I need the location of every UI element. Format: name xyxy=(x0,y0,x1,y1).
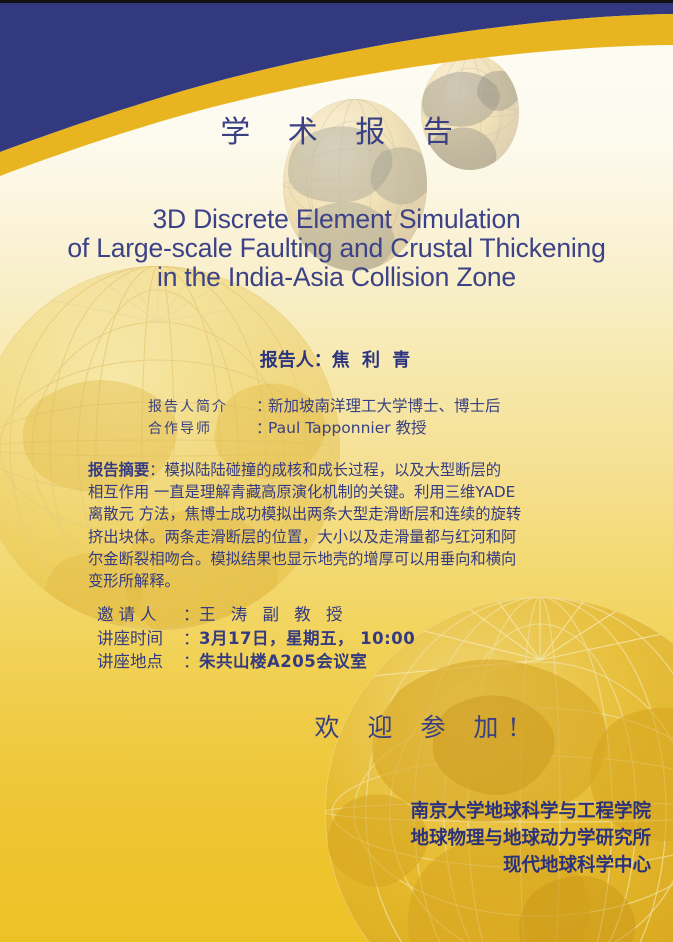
bio-intro-label: 报告人简介 xyxy=(148,397,256,418)
speaker-line: 报告人：焦 利 青 xyxy=(0,346,673,372)
poster-title-en: 3D Discrete Element Simulation of Large-… xyxy=(0,205,673,292)
welcome-message: 欢 迎 参 加! xyxy=(0,708,673,744)
abstract-line-4: 挤出块体。两条走滑断层的位置，大小以及走滑量都与红河和阿 xyxy=(88,526,598,548)
bio-intro-colon: ： xyxy=(256,396,268,417)
footer-line-2: 地球物理与地球动力学研究所 xyxy=(0,825,651,852)
speaker-name: 焦 利 青 xyxy=(332,350,414,371)
title-line-3: in the India-Asia Collision Zone xyxy=(0,263,673,292)
abstract-line-6: 变形所解释。 xyxy=(88,570,598,592)
abstract-line-5: 尔金断裂相吻合。模拟结果也显示地壳的增厚可以用垂向和横向 xyxy=(88,548,598,570)
abstract-line-1: 报告摘要：模拟陆陆碰撞的成核和成长过程，以及大型断层的 xyxy=(88,459,598,481)
host-value: 王 涛 副 教 授 xyxy=(199,603,347,627)
bio-advisor-value: Paul Tapponnier 教授 xyxy=(268,418,427,439)
abstract-colon: ： xyxy=(149,461,164,479)
detail-row-time: 讲座时间 ： 3月17日，星期五， 10:00 xyxy=(97,627,415,651)
speaker-bio-block: 报告人简介 ： 新加坡南洋理工大学博士、博士后 合作导师 ： Paul Tapp… xyxy=(148,396,501,440)
abstract-text-1: 模拟陆陆碰撞的成核和成长过程，以及大型断层的 xyxy=(165,461,502,479)
time-colon: ： xyxy=(183,627,199,651)
bio-intro-value: 新加坡南洋理工大学博士、博士后 xyxy=(268,396,501,417)
place-colon: ： xyxy=(183,650,199,674)
poster-heading-cn: 学 术 报 告 xyxy=(0,107,673,151)
title-line-2: of Large-scale Faulting and Crustal Thic… xyxy=(0,234,673,263)
place-value: 朱共山楼A205会议室 xyxy=(199,650,367,674)
abstract-line-3: 离散元 方法，焦博士成功模拟出两条大型走滑断层和连续的旋转 xyxy=(88,503,598,525)
abstract-label: 报告摘要 xyxy=(88,461,149,479)
title-line-1: 3D Discrete Element Simulation xyxy=(0,205,673,234)
abstract-line-2: 相互作用 一直是理解青藏高原演化机制的关键。利用三维YADE xyxy=(88,481,598,503)
event-details-block: 邀请人 ： 王 涛 副 教 授 讲座时间 ： 3月17日，星期五， 10:00 … xyxy=(97,603,415,674)
bio-advisor-label: 合作导师 xyxy=(148,419,256,440)
poster-canvas: 学 术 报 告 3D Discrete Element Simulation o… xyxy=(0,0,673,942)
speaker-label: 报告人： xyxy=(260,350,332,371)
footer-line-3: 现代地球科学中心 xyxy=(0,852,651,879)
detail-row-host: 邀请人 ： 王 涛 副 教 授 xyxy=(97,603,415,627)
abstract-block: 报告摘要：模拟陆陆碰撞的成核和成长过程，以及大型断层的 相互作用 一直是理解青藏… xyxy=(88,459,598,592)
place-label: 讲座地点 xyxy=(97,650,183,674)
bio-row-intro: 报告人简介 ： 新加坡南洋理工大学博士、博士后 xyxy=(148,396,501,418)
poster-content: 学 术 报 告 3D Discrete Element Simulation o… xyxy=(0,0,673,942)
bio-row-advisor: 合作导师 ： Paul Tapponnier 教授 xyxy=(148,418,501,440)
time-label: 讲座时间 xyxy=(97,627,183,651)
footer-organization: 南京大学地球科学与工程学院 地球物理与地球动力学研究所 现代地球科学中心 xyxy=(0,798,673,879)
footer-line-1: 南京大学地球科学与工程学院 xyxy=(0,798,651,825)
time-value: 3月17日，星期五， 10:00 xyxy=(199,627,415,651)
host-label: 邀请人 xyxy=(97,603,183,627)
bio-advisor-colon: ： xyxy=(256,418,268,439)
host-colon: ： xyxy=(183,603,199,627)
detail-row-place: 讲座地点 ： 朱共山楼A205会议室 xyxy=(97,650,415,674)
